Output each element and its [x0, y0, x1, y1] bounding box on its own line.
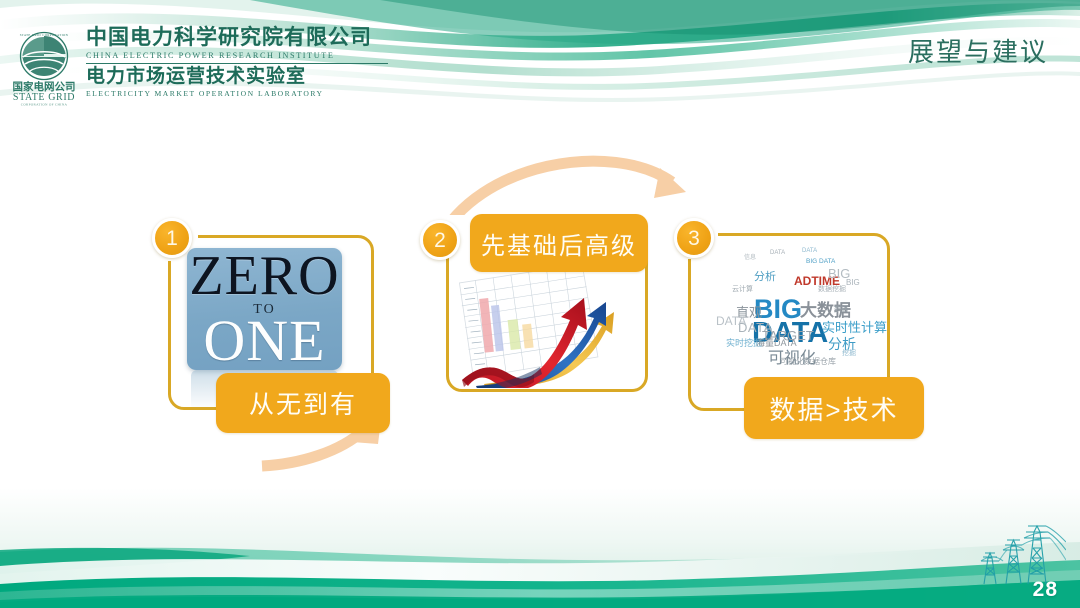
- logo-en-text: STATE GRID: [13, 92, 75, 103]
- org-name-en-primary: CHINA ELECTRIC POWER RESEARCH INSTITUTE: [86, 51, 406, 60]
- big-data-word-cloud: BIG DATA 大数据 ADTIME 实时性计算 可视化 分析 直观 DATA…: [710, 244, 890, 379]
- step-badge-2[interactable]: 2: [420, 220, 460, 260]
- page-number: 28: [1033, 578, 1058, 602]
- step-label-1[interactable]: 从无到有: [216, 373, 390, 433]
- slide-header: STATE GRID CORPORATION 国家电网公司 STATE GRID…: [0, 26, 620, 110]
- cover-line-zero: ZERO: [189, 252, 339, 300]
- svg-text:STATE GRID CORPORATION: STATE GRID CORPORATION: [20, 33, 69, 37]
- org-name-en-secondary: ELECTRICITY MARKET OPERATION LABORATORY: [86, 89, 406, 98]
- step-badge-1-number: 1: [166, 228, 178, 249]
- step-label-2[interactable]: 先基础后高级: [470, 214, 648, 272]
- step-label-2-text: 先基础后高级: [481, 226, 637, 261]
- logo-en-sub-text: CORPORATION OF CHINA: [21, 103, 68, 107]
- step-label-3[interactable]: 数据>技术: [744, 377, 924, 439]
- cover-line-one: ONE: [203, 315, 325, 367]
- zero-to-one-book-cover: ZERO TO ONE: [187, 248, 342, 370]
- step-badge-3[interactable]: 3: [674, 218, 714, 258]
- spreadsheet-growth-arrows-graphic: [448, 268, 643, 388]
- organization-names: 中国电力科学研究院有限公司 CHINA ELECTRIC POWER RESEA…: [86, 26, 406, 98]
- state-grid-logo: STATE GRID CORPORATION 国家电网公司 STATE GRID…: [6, 30, 82, 106]
- org-name-cn-secondary: 电力市场运营技术实验室: [86, 66, 406, 88]
- slide-canvas: STATE GRID CORPORATION 国家电网公司 STATE GRID…: [0, 0, 1080, 608]
- step-label-1-text: 从无到有: [249, 385, 357, 421]
- transmission-towers-graphic: [962, 512, 1066, 586]
- step-badge-2-number: 2: [434, 230, 446, 251]
- header-divider: [86, 63, 388, 64]
- bottom-wave-decoration: 28: [0, 488, 1080, 608]
- step-badge-3-number: 3: [688, 228, 700, 249]
- three-step-diagram: 1 ZERO TO ONE ONE 从无到有 2: [0, 118, 1080, 498]
- step-badge-1[interactable]: 1: [152, 218, 192, 258]
- step-label-3-text: 数据>技术: [769, 390, 898, 427]
- page-title: 展望与建议: [908, 32, 1048, 69]
- org-name-cn-primary: 中国电力科学研究院有限公司: [86, 26, 406, 50]
